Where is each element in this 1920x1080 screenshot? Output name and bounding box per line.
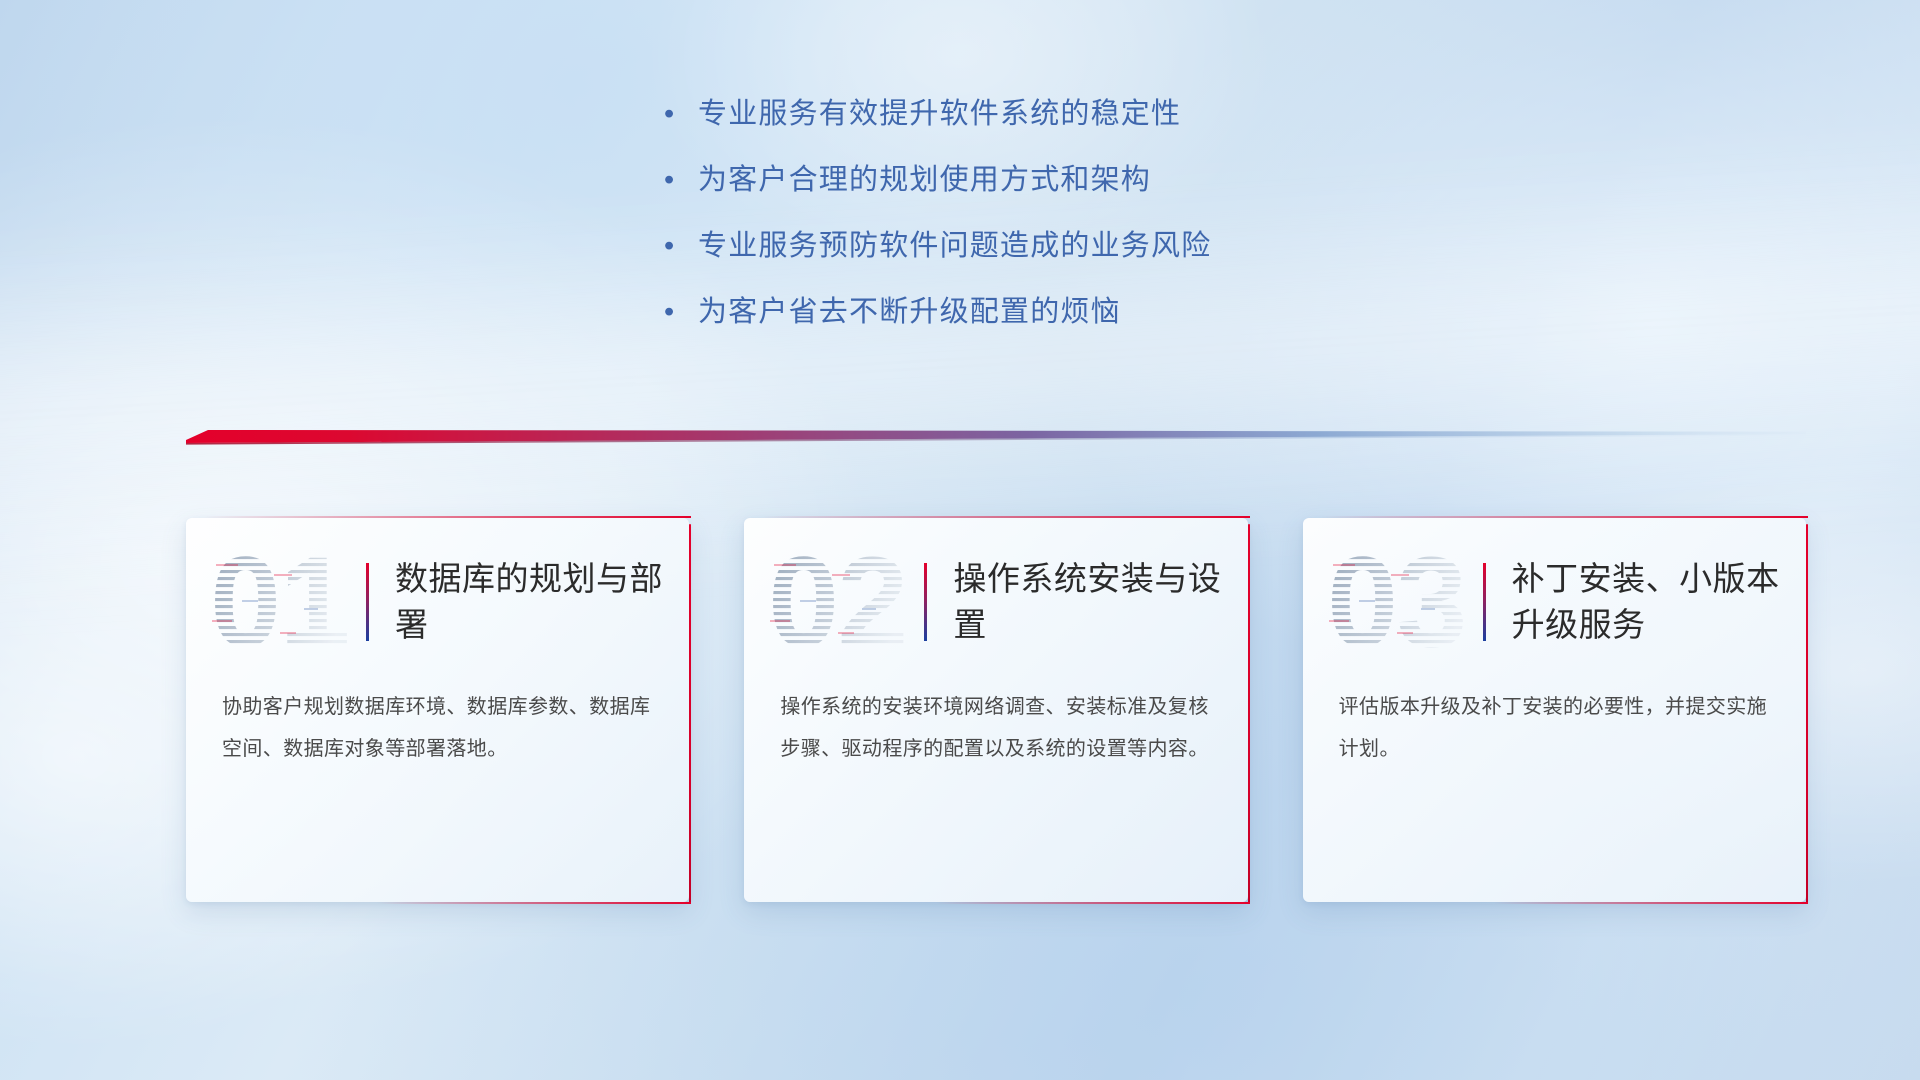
card-header: 01 数据库的规划与部署 [186, 518, 689, 686]
service-card-02[interactable]: 02 操作系统安装与设置 操作系统的安装环 [744, 518, 1247, 902]
card-body-text: 协助客户规划数据库环境、数据库参数、数据库空间、数据库对象等部署落地。 [186, 686, 689, 770]
bullet-marker-icon: • [660, 162, 698, 198]
card-title: 数据库的规划与部署 [395, 556, 663, 648]
section-divider [186, 424, 1806, 446]
card-accent-bar [1483, 563, 1486, 641]
service-card-01[interactable]: 01 数据库的规划与部署 协助客户规划数据 [186, 518, 689, 902]
card-accent-right [1806, 524, 1808, 904]
card-number-watermark: 02 [766, 542, 918, 662]
slide-root: • 专业服务有效提升软件系统的稳定性 • 为客户合理的规划使用方式和架构 • 专… [0, 0, 1920, 1080]
list-item: • 为客户省去不断升级配置的烦恼 [660, 294, 1480, 330]
card-header: 02 操作系统安装与设置 [744, 518, 1247, 686]
bullet-text: 为客户省去不断升级配置的烦恼 [698, 294, 1121, 330]
bullet-list: • 专业服务有效提升软件系统的稳定性 • 为客户合理的规划使用方式和架构 • 专… [660, 96, 1480, 360]
bullet-marker-icon: • [660, 96, 698, 132]
card-header: 03 补丁安装、小版本升级服务 [1303, 518, 1806, 686]
list-item: • 为客户合理的规划使用方式和架构 [660, 162, 1480, 198]
card-body-text: 评估版本升级及补丁安装的必要性，并提交实施计划。 [1303, 686, 1806, 770]
card-number-watermark: 01 [208, 542, 360, 662]
card-accent-bottom [936, 902, 1250, 904]
card-row: 01 数据库的规划与部署 协助客户规划数据 [186, 518, 1806, 902]
card-accent-bottom [1494, 902, 1808, 904]
svg-text:02: 02 [768, 542, 906, 662]
bullet-text: 为客户合理的规划使用方式和架构 [698, 162, 1151, 198]
card-accent-right [689, 524, 691, 904]
list-item: • 专业服务预防软件问题造成的业务风险 [660, 228, 1480, 264]
svg-text:01: 01 [210, 542, 348, 662]
card-number-watermark: 03 [1325, 542, 1477, 662]
card-title: 操作系统安装与设置 [953, 556, 1221, 648]
card-accent-bar [366, 563, 369, 641]
card-accent-right [1248, 524, 1250, 904]
bullet-marker-icon: • [660, 228, 698, 264]
card-body-text: 操作系统的安装环境网络调查、安装标准及复核步骤、驱动程序的配置以及系统的设置等内… [744, 686, 1247, 770]
card-accent-bar [924, 563, 927, 641]
bullet-text: 专业服务预防软件问题造成的业务风险 [698, 228, 1211, 264]
bullet-text: 专业服务有效提升软件系统的稳定性 [698, 96, 1181, 132]
svg-text:03: 03 [1327, 542, 1465, 662]
card-accent-bottom [377, 902, 691, 904]
service-card-03[interactable]: 03 补丁安装、小版本升级服务 评估版本升 [1303, 518, 1806, 902]
card-title: 补丁安装、小版本升级服务 [1512, 556, 1780, 648]
list-item: • 专业服务有效提升软件系统的稳定性 [660, 96, 1480, 132]
bullet-marker-icon: • [660, 294, 698, 330]
